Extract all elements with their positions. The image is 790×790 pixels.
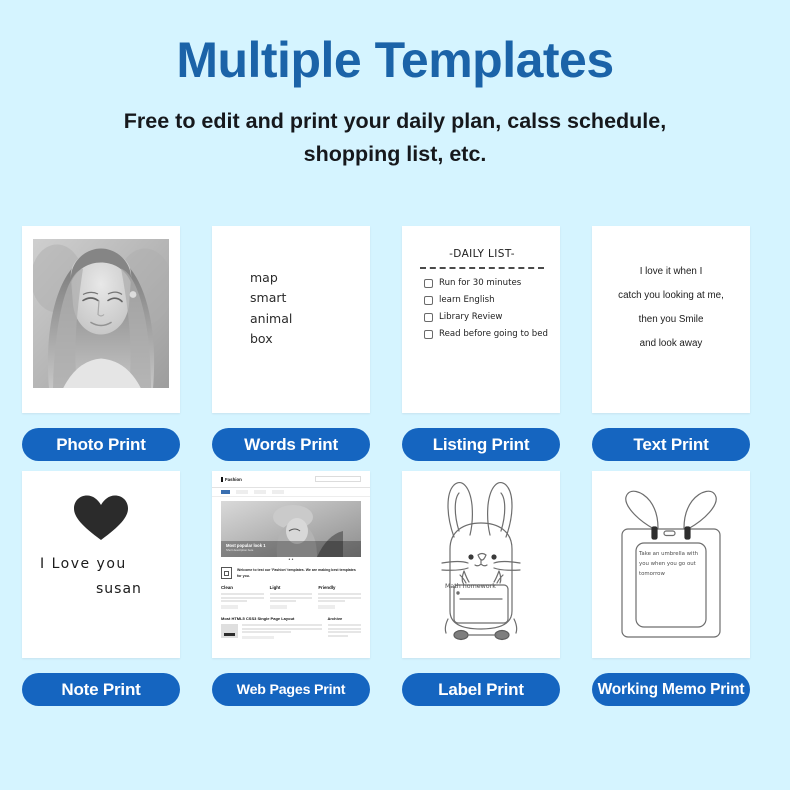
checkbox-icon[interactable] <box>424 330 433 339</box>
quote-line: and look away <box>602 332 740 356</box>
dashed-divider <box>420 267 544 269</box>
note-print-button[interactable]: Note Print <box>22 673 180 706</box>
template-cell-label-print: Math homework Label Print <box>402 471 560 706</box>
working-memo-print-button[interactable]: Working Memo Print <box>592 673 750 706</box>
template-cell-note-print: I Love you susan Note Print <box>22 471 180 706</box>
mockup-hero-image: Most popular look 1 Short description he… <box>221 501 361 557</box>
quote-line: then you Smile <box>602 308 740 332</box>
template-cell-text-print: I love it when I catch you looking at me… <box>592 226 750 461</box>
mockup-nav <box>212 488 370 497</box>
checkbox-icon[interactable] <box>424 279 433 288</box>
mockup-feature-columns: Clean Light Friendly <box>212 579 370 610</box>
daily-list-title: -DAILY LIST- <box>416 248 548 260</box>
list-item[interactable]: Run for 30 minutes <box>424 278 548 288</box>
words-print-button[interactable]: Words Print <box>212 428 370 461</box>
checkbox-icon[interactable] <box>424 313 433 322</box>
feature-heading: Light <box>270 585 313 590</box>
photo-print-button[interactable]: Photo Print <box>22 428 180 461</box>
list-item-label: Read before going to bed <box>439 329 548 339</box>
template-preview-words-print[interactable]: map smart animal box <box>212 226 370 413</box>
template-cell-photo-print: Photo Print <box>22 226 180 461</box>
word-list: map smart animal box <box>250 268 292 349</box>
word-item: box <box>250 329 292 349</box>
word-item: animal <box>250 309 292 329</box>
mockup-header: Fashion <box>212 471 370 488</box>
list-item-label: Run for 30 minutes <box>439 278 521 288</box>
web-pages-print-button[interactable]: Web Pages Print <box>212 673 370 706</box>
document-icon <box>221 567 232 579</box>
girl-portrait-image <box>33 239 169 388</box>
word-item: map <box>250 268 292 288</box>
bunny-line-drawing <box>402 471 560 658</box>
photo-thumbnail <box>33 239 169 388</box>
quote-line: I love it when I <box>602 260 740 284</box>
hero-caption: Most popular look 1 Short description he… <box>226 543 266 552</box>
search-box-icon <box>315 476 361 482</box>
template-preview-label-print[interactable]: Math homework <box>402 471 560 658</box>
hero-subtitle: Short description here <box>226 548 266 552</box>
feature-column: Light <box>270 585 313 610</box>
footer-side-heading: Archive <box>328 616 362 621</box>
footer-thumbnail-icon <box>221 624 238 638</box>
nav-item <box>254 490 266 494</box>
list-item-label: learn English <box>439 295 495 305</box>
quote-text: I love it when I catch you looking at me… <box>602 260 740 356</box>
list-item-label: Library Review <box>439 312 502 322</box>
template-grid: Photo Print map smart animal box Words P… <box>22 226 770 706</box>
welcome-text: Welcome to test our 'Fashion' templates.… <box>237 567 361 579</box>
feature-heading: Friendly <box>318 585 361 590</box>
feature-column: Friendly <box>318 585 361 610</box>
subtitle-line-2: shopping list, etc. <box>45 138 745 171</box>
mockup-footer: Most HTML5 CSS3 Single Page Layout <box>212 610 370 641</box>
feature-heading: Clean <box>221 585 264 590</box>
page-title: Multiple Templates <box>0 0 790 87</box>
template-cell-web-pages-print: Fashion <box>212 471 370 706</box>
list-item[interactable]: Library Review <box>424 312 548 322</box>
label-note-text: Math homework <box>445 583 496 590</box>
list-item[interactable]: learn English <box>424 295 548 305</box>
site-logo: Fashion <box>221 477 242 482</box>
webpage-mockup: Fashion <box>212 471 370 658</box>
page-subtitle: Free to edit and print your daily plan, … <box>45 87 745 172</box>
footer-sidebar: Archive <box>328 616 362 641</box>
template-preview-note-print[interactable]: I Love you susan <box>22 471 180 658</box>
nav-item <box>272 490 284 494</box>
list-item[interactable]: Read before going to bed <box>424 329 548 339</box>
footer-main: Most HTML5 CSS3 Single Page Layout <box>221 616 322 641</box>
note-line-2: susan <box>96 581 142 597</box>
template-preview-photo-print[interactable] <box>22 226 180 413</box>
text-print-button[interactable]: Text Print <box>592 428 750 461</box>
subtitle-line-1: Free to edit and print your daily plan, … <box>45 105 745 138</box>
footer-heading: Most HTML5 CSS3 Single Page Layout <box>221 616 322 621</box>
template-preview-working-memo-print[interactable]: Take an umbrella with you when you go ou… <box>592 471 750 658</box>
memo-note-text: Take an umbrella with you when you go ou… <box>639 549 705 579</box>
quote-line: catch you looking at me, <box>602 284 740 308</box>
template-preview-listing-print[interactable]: -DAILY LIST- Run for 30 minutes learn En… <box>402 226 560 413</box>
bunny-icon <box>402 471 560 658</box>
checkbox-icon[interactable] <box>424 296 433 305</box>
heart-icon <box>72 494 130 547</box>
word-item: smart <box>250 288 292 308</box>
daily-list: -DAILY LIST- Run for 30 minutes learn En… <box>416 248 548 346</box>
listing-print-button[interactable]: Listing Print <box>402 428 560 461</box>
note-line-1: I Love you <box>40 556 127 572</box>
template-cell-working-memo-print: Take an umbrella with you when you go ou… <box>592 471 750 706</box>
mockup-welcome-block: Welcome to test our 'Fashion' templates.… <box>212 563 370 579</box>
feature-column: Clean <box>221 585 264 610</box>
template-cell-listing-print: -DAILY LIST- Run for 30 minutes learn En… <box>402 226 560 461</box>
nav-item <box>221 490 230 494</box>
label-print-button[interactable]: Label Print <box>402 673 560 706</box>
template-cell-words-print: map smart animal box Words Print <box>212 226 370 461</box>
templates-promo-page: Multiple Templates Free to edit and prin… <box>0 0 790 790</box>
nav-item <box>236 490 248 494</box>
template-preview-web-pages-print[interactable]: Fashion <box>212 471 370 658</box>
template-preview-text-print[interactable]: I love it when I catch you looking at me… <box>592 226 750 413</box>
